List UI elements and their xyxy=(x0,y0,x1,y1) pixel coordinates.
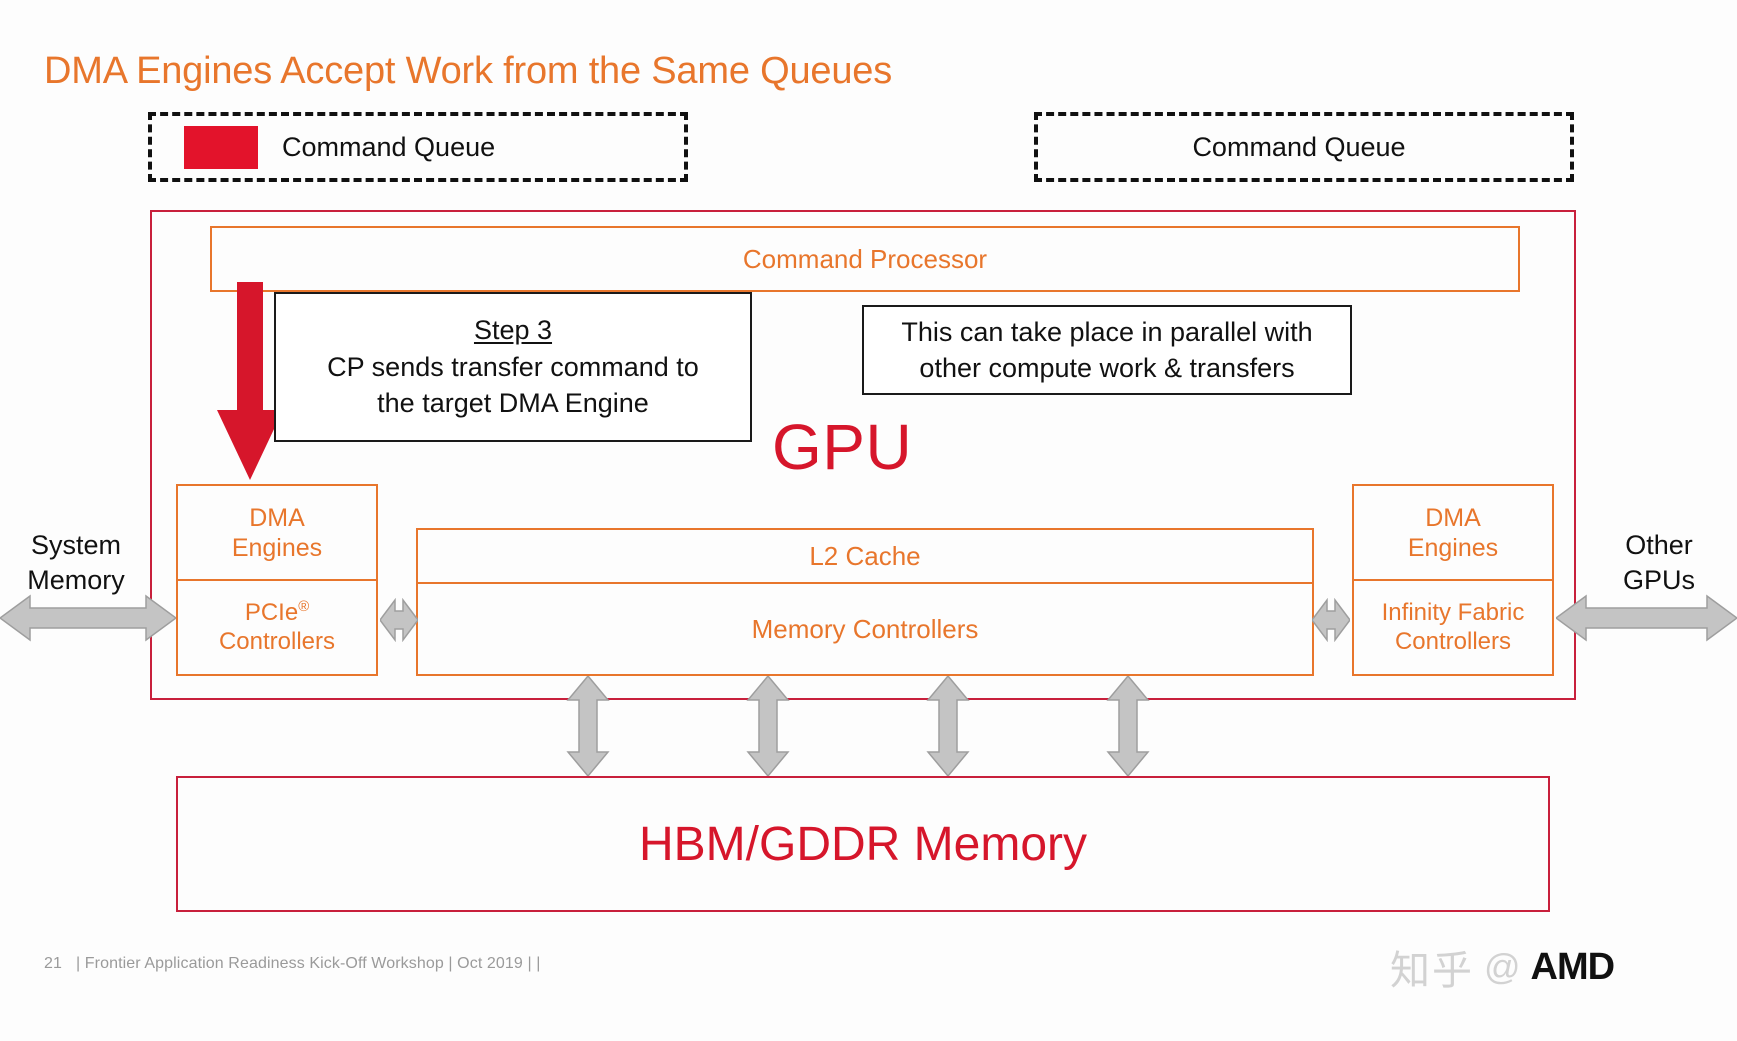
core-to-fabric-arrow xyxy=(1312,598,1350,642)
callout-step3-line2: the target DMA Engine xyxy=(377,386,649,422)
callout-step3-heading: Step 3 xyxy=(474,313,552,349)
watermark: 知乎 @ AMD xyxy=(1390,938,1614,996)
queue-color-swatch xyxy=(184,126,258,169)
if-line1: Infinity Fabric xyxy=(1382,599,1525,626)
pcie-to-core-arrow xyxy=(380,598,418,642)
pcie-line2: Controllers xyxy=(219,628,335,655)
command-processor-label: Command Processor xyxy=(743,244,987,275)
if-line2: Controllers xyxy=(1395,628,1511,655)
registered-mark-icon: ® xyxy=(298,599,309,615)
callout-step3-line1: CP sends transfer command to xyxy=(327,350,699,386)
right-dma-line1: DMA xyxy=(1425,504,1481,532)
left-dma-engines: DMAEngines xyxy=(178,486,376,579)
callout-parallel-line1: This can take place in parallel with xyxy=(901,314,1312,350)
callout-parallel-note: This can take place in parallel with oth… xyxy=(862,305,1352,395)
command-processor-block[interactable]: Command Processor xyxy=(210,226,1520,292)
pcie-line1: PCIe xyxy=(245,599,298,626)
gpu-label: GPU xyxy=(772,410,912,484)
slide-footer: 21| Frontier Application Readiness Kick-… xyxy=(44,955,541,973)
system-memory-line1: System xyxy=(31,530,121,560)
memory-link-arrow-2 xyxy=(746,676,790,776)
zhihu-logo-icon: 知乎 xyxy=(1390,938,1474,996)
other-gpus-link-arrow xyxy=(1556,594,1737,642)
memory-link-arrow-3 xyxy=(926,676,970,776)
hbm-gddr-memory-block[interactable]: HBM/GDDR Memory xyxy=(176,776,1550,912)
pcie-controllers: PCIe®Controllers xyxy=(178,579,376,674)
hbm-gddr-memory-label: HBM/GDDR Memory xyxy=(639,817,1087,872)
command-queue-left-label: Command Queue xyxy=(282,132,664,163)
slide-footer-text: | Frontier Application Readiness Kick-Of… xyxy=(76,955,541,972)
slide-canvas: DMA Engines Accept Work from the Same Qu… xyxy=(0,0,1737,1041)
command-queue-left[interactable]: Command Queue xyxy=(148,112,688,182)
command-queue-right[interactable]: Command Queue xyxy=(1034,112,1574,182)
left-dma-line1: DMA xyxy=(249,504,305,532)
other-gpus-label: Other GPUs xyxy=(1594,528,1724,597)
l2-cache-label: L2 Cache xyxy=(809,541,920,572)
left-dma-line2: Engines xyxy=(232,534,322,562)
page-title: DMA Engines Accept Work from the Same Qu… xyxy=(44,50,892,93)
infinity-fabric-controllers: Infinity FabricControllers xyxy=(1354,579,1552,674)
right-interface-block[interactable]: DMAEngines Infinity FabricControllers xyxy=(1352,484,1554,676)
memory-link-arrow-1 xyxy=(566,676,610,776)
callout-step3: Step 3 CP sends transfer command to the … xyxy=(274,292,752,442)
l2-cache-block[interactable]: L2 Cache xyxy=(418,530,1312,584)
system-memory-label: System Memory xyxy=(8,528,144,597)
at-sign-icon: @ xyxy=(1484,946,1521,988)
system-memory-link-arrow xyxy=(0,594,176,642)
gpu-center-stack: L2 Cache Memory Controllers xyxy=(416,528,1314,676)
memory-controllers-label: Memory Controllers xyxy=(752,614,979,645)
slide-page-number: 21 xyxy=(44,955,62,972)
right-dma-line2: Engines xyxy=(1408,534,1498,562)
left-interface-block[interactable]: DMAEngines PCIe®Controllers xyxy=(176,484,378,676)
memory-controllers-block[interactable]: Memory Controllers xyxy=(418,584,1312,674)
right-dma-engines: DMAEngines xyxy=(1354,486,1552,579)
command-queue-right-label: Command Queue xyxy=(1038,132,1560,163)
other-gpus-line2: GPUs xyxy=(1623,565,1695,595)
callout-parallel-line2: other compute work & transfers xyxy=(919,350,1294,386)
other-gpus-line1: Other xyxy=(1625,530,1693,560)
system-memory-line2: Memory xyxy=(27,565,125,595)
amd-logo-icon: AMD xyxy=(1531,946,1615,989)
memory-link-arrow-4 xyxy=(1106,676,1150,776)
